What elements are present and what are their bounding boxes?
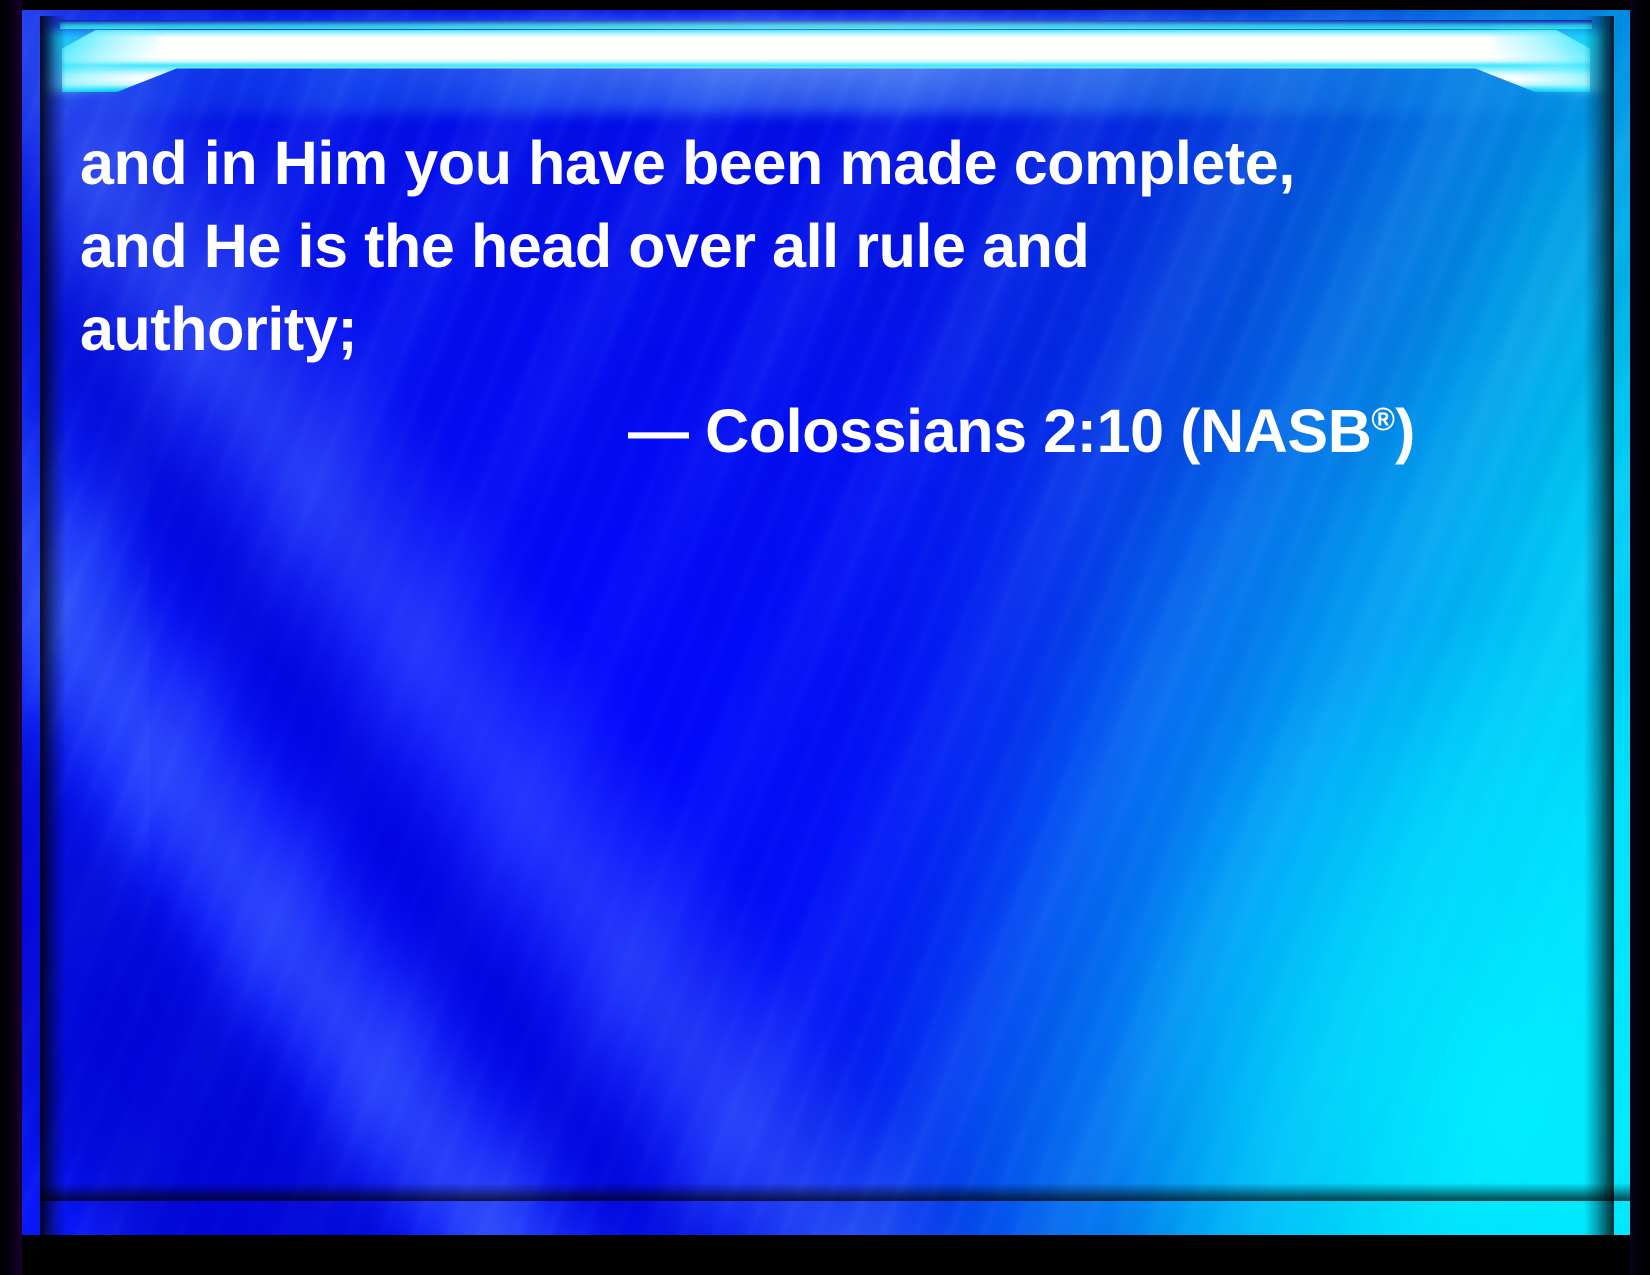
verse-line-3: authority; <box>80 288 1550 371</box>
verse-attribution: — Colossians 2:10 (NASB®) <box>628 378 1415 473</box>
attribution-reference: Colossians 2:10 (NASB <box>705 397 1371 465</box>
frame-top-border <box>0 0 1650 10</box>
attribution-closing-paren: ) <box>1395 397 1415 465</box>
frame-left-border <box>0 0 22 1275</box>
stage-bottom-vignette <box>40 1183 1632 1201</box>
frame-bottom-border <box>0 1235 1650 1275</box>
stage-left-vignette <box>40 16 66 1237</box>
verse-line-2: and He is the head over all rule and <box>80 205 1550 288</box>
frame-right-border <box>1630 0 1650 1275</box>
scripture-slide: and in Him you have been made complete, … <box>0 0 1650 1275</box>
attribution-spacer <box>689 397 706 465</box>
registered-trademark-icon: ® <box>1371 401 1395 437</box>
verse-line-1: and in Him you have been made complete, <box>80 122 1550 205</box>
stage-right-vignette <box>1584 16 1614 1237</box>
top-glow-bar <box>62 30 1590 92</box>
verse-text-block: and in Him you have been made complete, … <box>80 122 1550 371</box>
attribution-em-dash: — <box>628 397 689 465</box>
